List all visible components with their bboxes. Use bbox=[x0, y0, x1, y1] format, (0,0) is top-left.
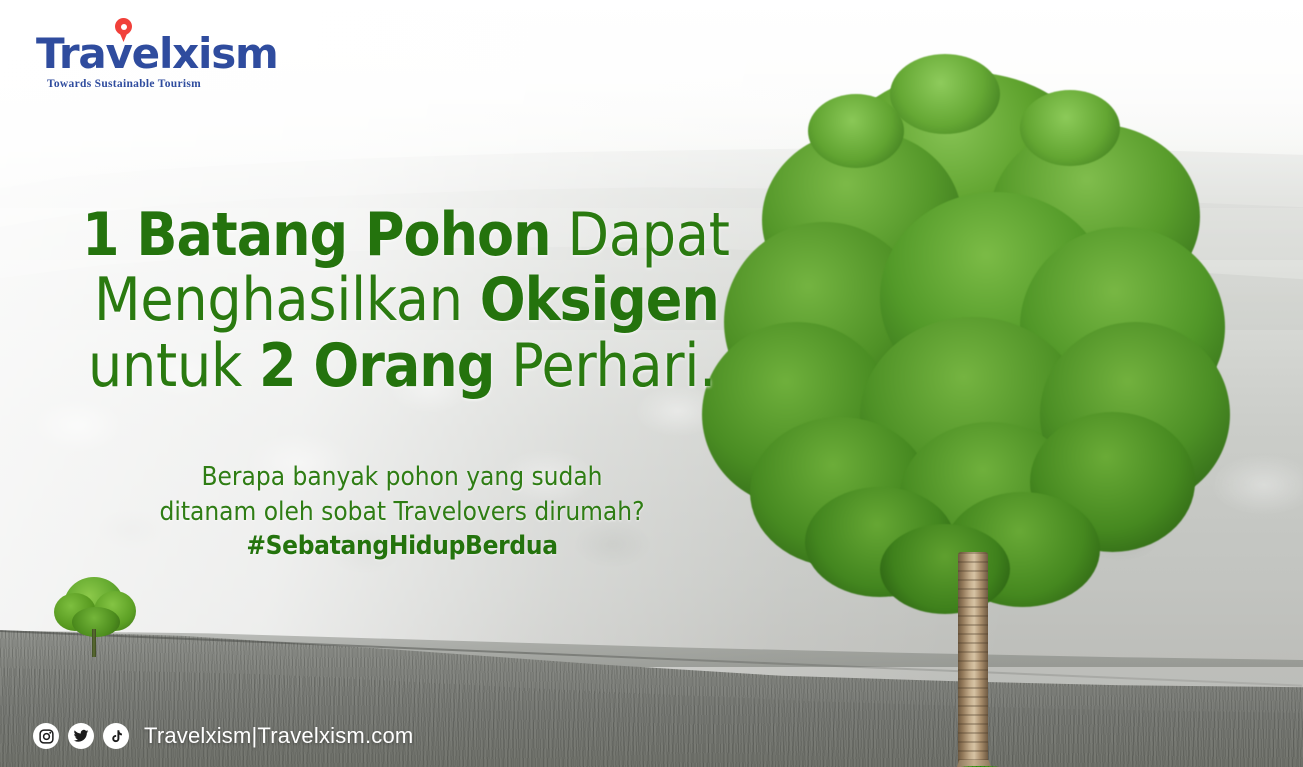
headline-line-3-bold: 2 Orang bbox=[259, 331, 494, 401]
headline-line-3-regular-a: untuk bbox=[88, 331, 259, 401]
headline-line-1: 1 Batang Pohon Dapat bbox=[82, 206, 722, 265]
headline-line-2: Menghasilkan Oksigen bbox=[94, 271, 722, 330]
tiktok-icon[interactable] bbox=[103, 723, 129, 749]
instagram-icon[interactable] bbox=[33, 723, 59, 749]
logo-wordmark: Travelxism bbox=[36, 33, 278, 75]
headline-line-2-regular: Menghasilkan bbox=[94, 265, 480, 335]
headline-line-3: untuk 2 Orang Perhari. bbox=[88, 337, 722, 396]
main-tree-trunk bbox=[958, 552, 988, 767]
footer-bar: Travelxism|Travelxism.com bbox=[33, 723, 413, 749]
logo-tagline: Towards Sustainable Tourism bbox=[36, 78, 212, 90]
headline-block: 1 Batang Pohon Dapat Menghasilkan Oksige… bbox=[82, 206, 722, 402]
location-pin-icon bbox=[115, 18, 132, 42]
headline-line-3-regular-b: Perhari. bbox=[494, 331, 716, 401]
main-tree-canopy bbox=[690, 72, 1250, 617]
headline-line-1-regular: Dapat bbox=[551, 200, 730, 270]
footer-handle-text: Travelxism|Travelxism.com bbox=[144, 723, 413, 749]
small-tree-illustration bbox=[48, 575, 140, 655]
headline-line-1-bold: 1 Batang Pohon bbox=[82, 200, 551, 270]
poster-canvas: Travelxism Towards Sustainable Tourism 1… bbox=[0, 0, 1303, 767]
logo-wordmark-text: Travelxism bbox=[36, 29, 278, 78]
main-tree-illustration bbox=[690, 72, 1250, 732]
campaign-hashtag[interactable]: #SebatangHidupBerdua bbox=[82, 531, 722, 561]
pin-tip bbox=[118, 29, 129, 42]
headline-line-2-bold: Oksigen bbox=[480, 265, 719, 335]
pin-dot bbox=[121, 24, 127, 30]
twitter-icon[interactable] bbox=[68, 723, 94, 749]
subtext-line-2: ditanam oleh sobat Travelovers dirumah? bbox=[82, 495, 722, 530]
small-tree-trunk bbox=[92, 629, 96, 657]
brand-logo[interactable]: Travelxism Towards Sustainable Tourism bbox=[36, 33, 278, 90]
subtext-block: Berapa banyak pohon yang sudah ditanam o… bbox=[82, 460, 722, 530]
subtext-line-1: Berapa banyak pohon yang sudah bbox=[82, 460, 722, 495]
